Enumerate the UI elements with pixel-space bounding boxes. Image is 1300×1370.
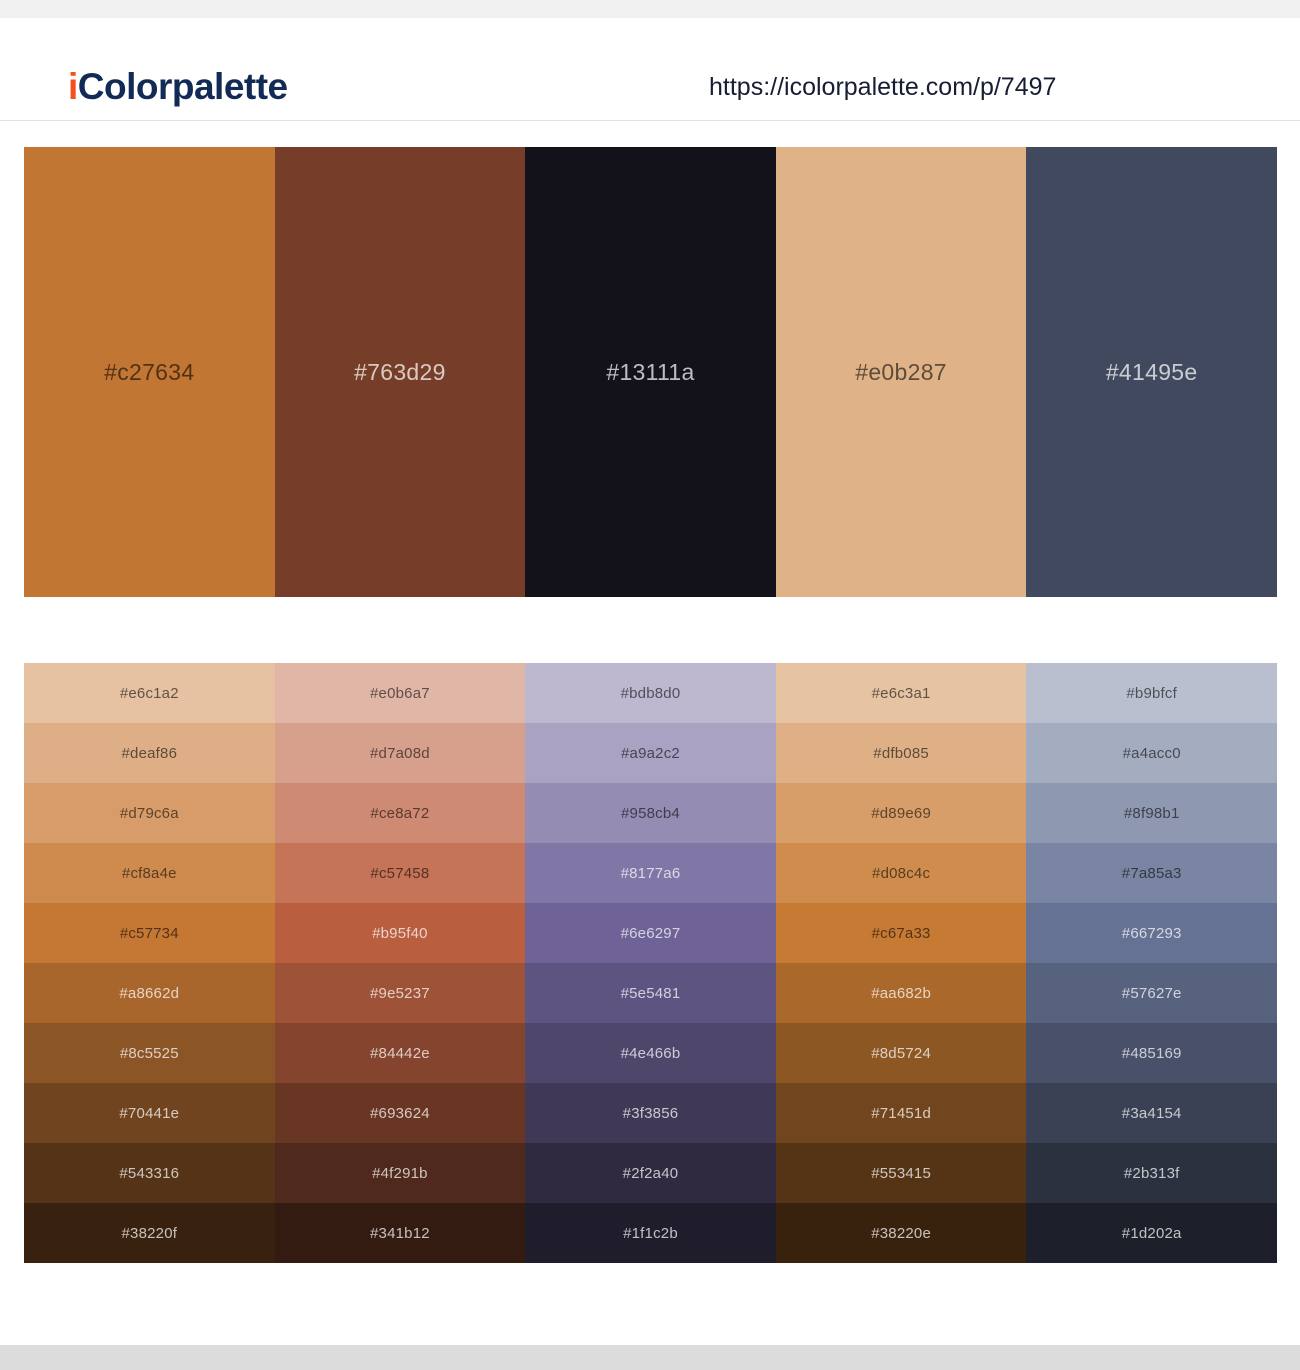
shade-cell[interactable]: #3f3856 [525,1083,776,1143]
shade-cell[interactable]: #38220f [24,1203,275,1263]
shade-cell-hex: #543316 [119,1166,179,1181]
shade-cell-hex: #958cb4 [621,806,680,821]
shade-cell-hex: #71451d [871,1106,931,1121]
shade-cell-hex: #a9a2c2 [621,746,680,761]
footer-band [0,1345,1300,1370]
shade-cell-hex: #667293 [1122,926,1182,941]
shade-cell[interactable]: #2b313f [1026,1143,1277,1203]
shade-cell[interactable]: #4e466b [525,1023,776,1083]
shade-cell-hex: #d79c6a [120,806,179,821]
shade-cell-hex: #dfb085 [873,746,929,761]
shade-cell[interactable]: #485169 [1026,1023,1277,1083]
shade-cell-hex: #9e5237 [370,986,430,1001]
shade-cell-hex: #5e5481 [621,986,681,1001]
main-palette: #c27634#763d29#13111a#e0b287#41495e [24,147,1277,597]
shade-cell[interactable]: #aa682b [776,963,1027,1023]
shade-cell[interactable]: #71451d [776,1083,1027,1143]
shade-cell-hex: #57627e [1122,986,1182,1001]
shade-cell-hex: #3a4154 [1122,1106,1182,1121]
shade-cell-hex: #8d5724 [871,1046,931,1061]
shade-cell-hex: #38220f [121,1226,177,1241]
main-swatch-hex: #e0b287 [855,361,947,384]
shade-cell[interactable]: #693624 [275,1083,526,1143]
shade-cell[interactable]: #543316 [24,1143,275,1203]
shade-cell[interactable]: #38220e [776,1203,1027,1263]
shade-cell[interactable]: #dfb085 [776,723,1027,783]
shade-cell-hex: #84442e [370,1046,430,1061]
shade-cell-hex: #ce8a72 [370,806,429,821]
shade-cell[interactable]: #e6c1a2 [24,663,275,723]
shade-cell[interactable]: #9e5237 [275,963,526,1023]
shade-cell[interactable]: #d08c4c [776,843,1027,903]
shade-cell[interactable]: #b95f40 [275,903,526,963]
shade-cell-hex: #b95f40 [372,926,428,941]
shade-cell-hex: #d08c4c [872,866,930,881]
shade-cell[interactable]: #deaf86 [24,723,275,783]
shade-cell-hex: #a8662d [119,986,179,1001]
shade-cell-hex: #3f3856 [623,1106,679,1121]
shade-cell-hex: #deaf86 [121,746,177,761]
main-swatch[interactable]: #763d29 [275,147,526,597]
main-swatch[interactable]: #e0b287 [776,147,1027,597]
shade-cell-hex: #aa682b [871,986,931,1001]
site-header: iColorpalette https://icolorpalette.com/… [0,18,1300,121]
shade-cell[interactable]: #c67a33 [776,903,1027,963]
shade-cell[interactable]: #8f98b1 [1026,783,1277,843]
shade-cell-hex: #553415 [871,1166,931,1181]
shade-cell-hex: #6e6297 [621,926,681,941]
shade-cell[interactable]: #2f2a40 [525,1143,776,1203]
shade-cell[interactable]: #a9a2c2 [525,723,776,783]
shade-cell-hex: #c57458 [370,866,429,881]
shades-grid: #e6c1a2#e0b6a7#bdb8d0#e6c3a1#b9bfcf#deaf… [24,663,1277,1263]
shade-cell-hex: #8177a6 [621,866,681,881]
shade-cell[interactable]: #6e6297 [525,903,776,963]
page-url: https://icolorpalette.com/p/7497 [709,75,1056,100]
shade-cell-hex: #d7a08d [370,746,430,761]
shade-cell-hex: #c67a33 [872,926,931,941]
site-logo[interactable]: iColorpalette [68,68,288,105]
main-swatch-hex: #c27634 [104,361,194,384]
shade-cell[interactable]: #84442e [275,1023,526,1083]
shade-cell[interactable]: #ce8a72 [275,783,526,843]
shade-cell[interactable]: #cf8a4e [24,843,275,903]
shade-cell[interactable]: #553415 [776,1143,1027,1203]
shade-cell[interactable]: #1d202a [1026,1203,1277,1263]
shade-cell[interactable]: #8177a6 [525,843,776,903]
shade-cell-hex: #cf8a4e [122,866,177,881]
shade-cell-hex: #1f1c2b [623,1226,678,1241]
main-swatch[interactable]: #41495e [1026,147,1277,597]
main-swatch-hex: #763d29 [354,361,446,384]
shade-cell[interactable]: #667293 [1026,903,1277,963]
page-root: iColorpalette https://icolorpalette.com/… [0,0,1300,1370]
shade-cell[interactable]: #d79c6a [24,783,275,843]
shade-cell[interactable]: #c57458 [275,843,526,903]
main-swatch-hex: #41495e [1106,361,1198,384]
shade-cell[interactable]: #4f291b [275,1143,526,1203]
shade-cell[interactable]: #a4acc0 [1026,723,1277,783]
shade-cell[interactable]: #70441e [24,1083,275,1143]
shade-cell-hex: #70441e [119,1106,179,1121]
shade-cell[interactable]: #bdb8d0 [525,663,776,723]
shade-cell[interactable]: #e6c3a1 [776,663,1027,723]
shade-cell-hex: #8c5525 [120,1046,179,1061]
shade-cell-hex: #7a85a3 [1122,866,1182,881]
shade-cell-hex: #341b12 [370,1226,430,1241]
shade-cell-hex: #e6c3a1 [872,686,931,701]
main-swatch[interactable]: #13111a [525,147,776,597]
shade-cell-hex: #e0b6a7 [370,686,430,701]
shade-cell[interactable]: #958cb4 [525,783,776,843]
shade-cell-hex: #b9bfcf [1126,686,1177,701]
shade-cell-hex: #485169 [1122,1046,1182,1061]
shade-cell-hex: #c57734 [120,926,179,941]
shade-cell-hex: #e6c1a2 [120,686,179,701]
shade-cell[interactable]: #e0b6a7 [275,663,526,723]
shade-cell[interactable]: #a8662d [24,963,275,1023]
shade-cell[interactable]: #8c5525 [24,1023,275,1083]
shade-cell[interactable]: #c57734 [24,903,275,963]
shade-cell-hex: #1d202a [1122,1226,1182,1241]
shade-cell[interactable]: #3a4154 [1026,1083,1277,1143]
shade-cell[interactable]: #341b12 [275,1203,526,1263]
shade-cell[interactable]: #1f1c2b [525,1203,776,1263]
main-swatch[interactable]: #c27634 [24,147,275,597]
shade-cell[interactable]: #7a85a3 [1026,843,1277,903]
logo-word: Colorpalette [78,66,288,107]
shade-cell-hex: #a4acc0 [1123,746,1181,761]
shade-cell-hex: #d89e69 [871,806,931,821]
shade-cell[interactable]: #d7a08d [275,723,526,783]
shade-cell-hex: #4f291b [372,1166,428,1181]
logo-accent-letter: i [68,66,78,107]
shade-cell-hex: #2f2a40 [623,1166,679,1181]
shade-cell-hex: #38220e [871,1226,931,1241]
shade-cell-hex: #8f98b1 [1124,806,1180,821]
shade-cell[interactable]: #57627e [1026,963,1277,1023]
shade-cell[interactable]: #8d5724 [776,1023,1027,1083]
shade-cell-hex: #4e466b [621,1046,681,1061]
shade-cell[interactable]: #b9bfcf [1026,663,1277,723]
shade-cell[interactable]: #d89e69 [776,783,1027,843]
main-swatch-hex: #13111a [606,361,694,384]
shade-cell-hex: #bdb8d0 [621,686,681,701]
shade-cell-hex: #2b313f [1124,1166,1180,1181]
shade-cell-hex: #693624 [370,1106,430,1121]
shade-cell[interactable]: #5e5481 [525,963,776,1023]
